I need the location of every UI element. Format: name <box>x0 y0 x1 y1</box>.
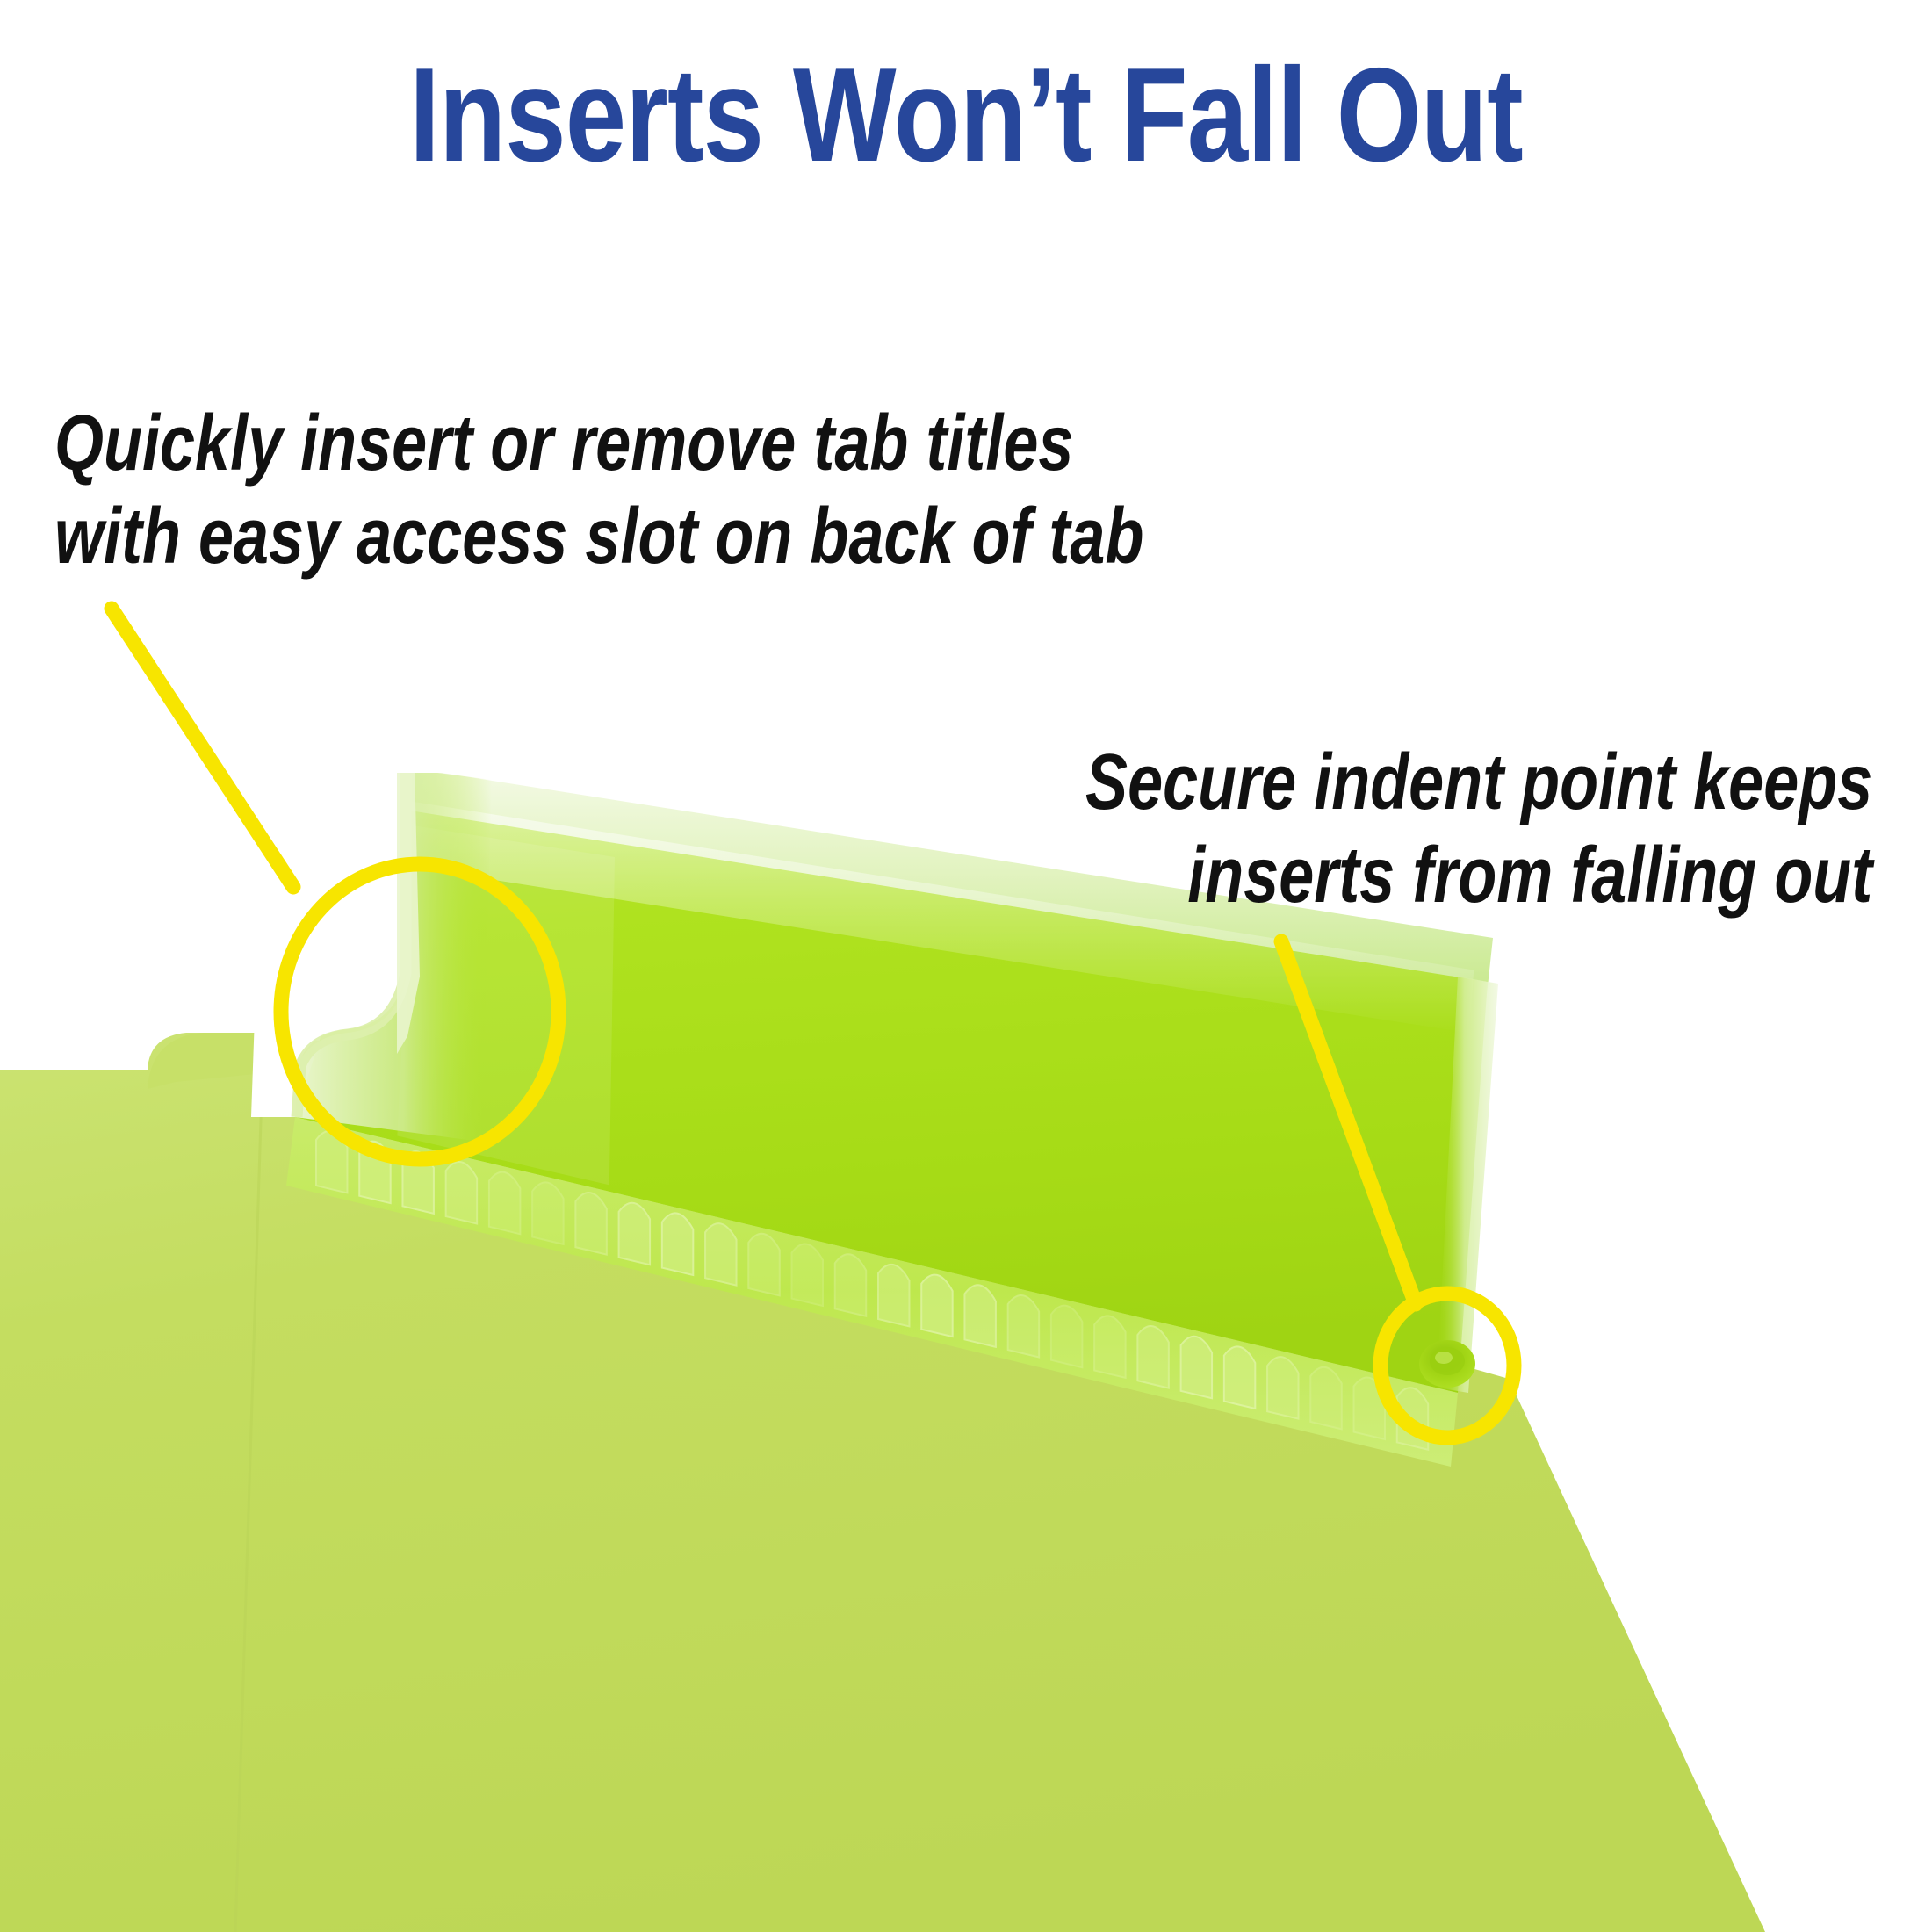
page-title: Inserts Won’t Fall Out <box>174 46 1758 186</box>
crimp-rib <box>316 1131 347 1193</box>
crimp-rib <box>792 1244 823 1307</box>
annotation-left-line-2: with easy access slot on back of tab <box>54 490 1143 583</box>
crimp-rib <box>748 1234 779 1296</box>
easy-access-slot <box>251 773 492 1142</box>
crimp-rib <box>1137 1326 1168 1388</box>
crimp-rib <box>1267 1357 1298 1419</box>
crimp-rib <box>705 1223 736 1286</box>
annotation-right-line-2: inserts from falling out <box>1085 829 1872 922</box>
crimp-rib <box>532 1182 563 1244</box>
annotation-left: Quickly insert or remove tab titles with… <box>54 397 1143 583</box>
crimp-rib <box>1310 1367 1341 1430</box>
crimp-rib <box>619 1203 650 1265</box>
annotation-right: Secure indent point keeps inserts from f… <box>1085 736 1872 922</box>
crimp-rib <box>359 1142 390 1204</box>
crimp-rib <box>964 1285 995 1347</box>
crimp-rib <box>662 1213 693 1275</box>
crimp-rib <box>402 1151 433 1214</box>
crimp-rib <box>1397 1388 1428 1450</box>
crimp-rib <box>1181 1337 1212 1399</box>
crimp-rib <box>446 1162 477 1224</box>
infographic-canvas: Inserts Won’t Fall Out Quickly insert or… <box>0 0 1932 1932</box>
crimp-rib <box>835 1254 866 1316</box>
crimp-rib <box>575 1193 606 1255</box>
crimp-rib <box>921 1275 952 1337</box>
crimp-rib <box>1008 1295 1039 1358</box>
crimp-rib <box>878 1265 909 1327</box>
crimp-rib <box>1051 1306 1082 1368</box>
product-photo <box>0 773 1932 1932</box>
secure-indent-point <box>1419 1340 1475 1388</box>
crimp-rib <box>1094 1316 1125 1378</box>
crimp-rib <box>1224 1346 1255 1409</box>
annotation-left-line-1: Quickly insert or remove tab titles <box>54 397 1143 490</box>
crimp-rib <box>489 1172 520 1235</box>
crimp-rib <box>1354 1378 1385 1440</box>
annotation-right-line-1: Secure indent point keeps <box>1085 736 1872 829</box>
